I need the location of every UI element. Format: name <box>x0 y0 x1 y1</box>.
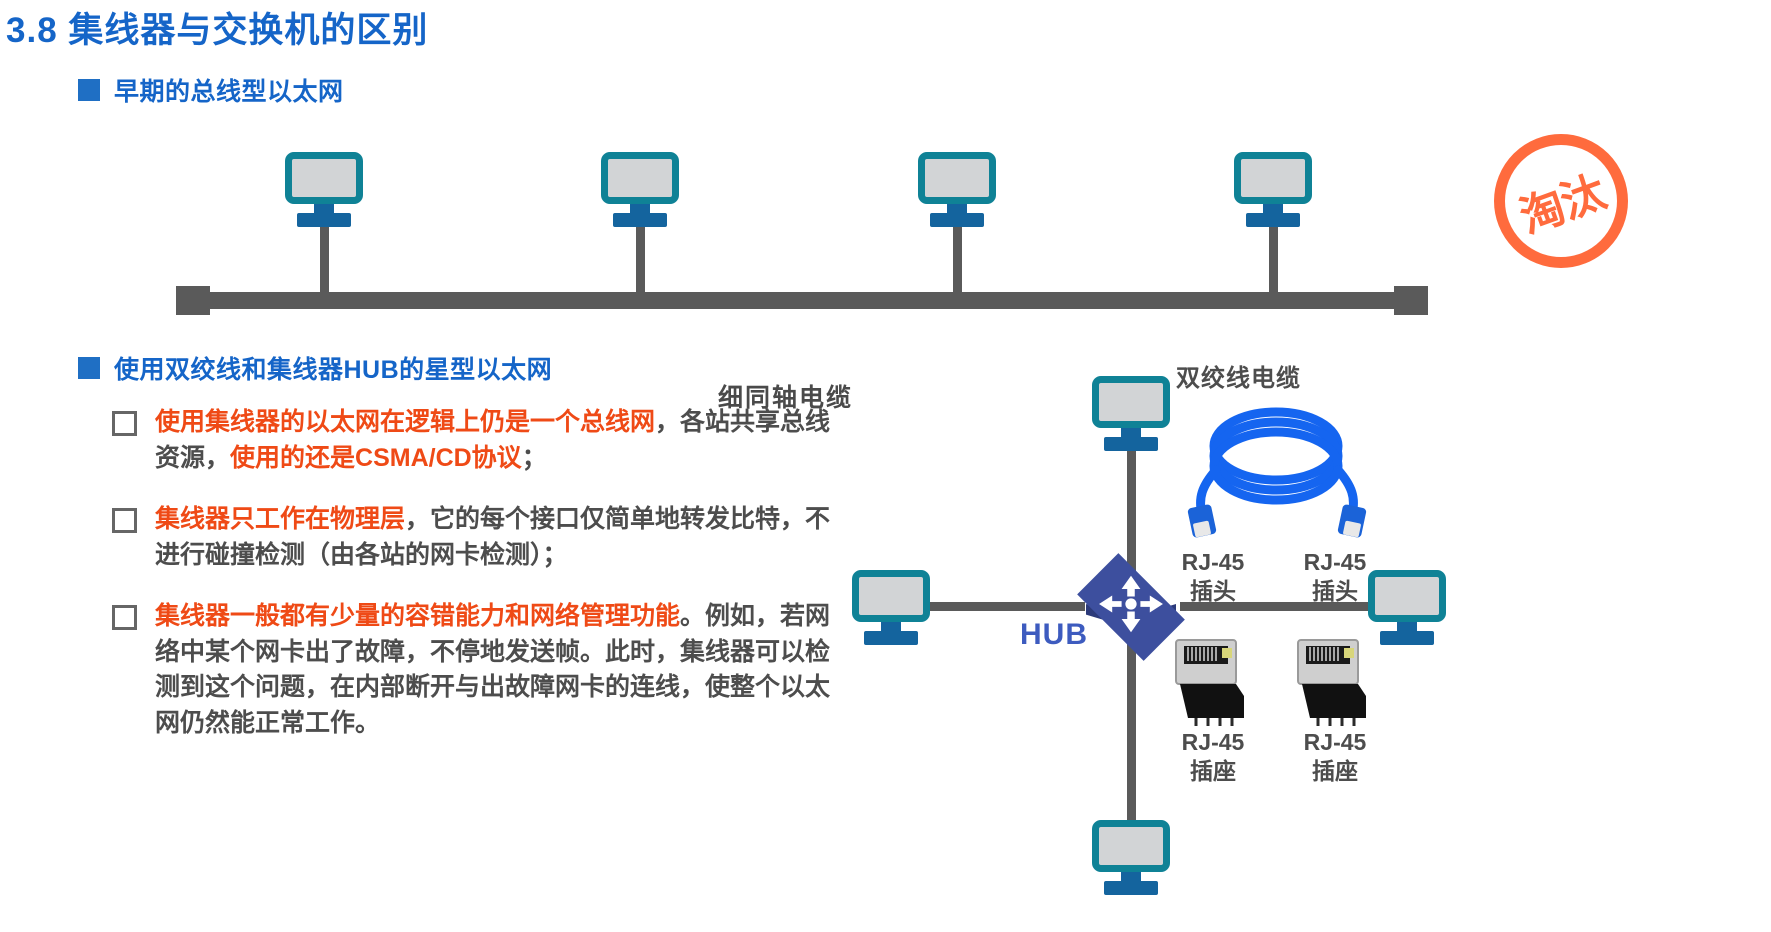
bullet-list: 使用集线器的以太网在逻辑上仍是一个总线网，各站共享总线资源，使用的还是CSMA/… <box>112 405 852 767</box>
computer-icon-top <box>1092 376 1170 451</box>
text-run-2: 使用的还是CSMA/CD协议 <box>230 444 522 472</box>
monitor-base <box>1246 213 1300 227</box>
monitor-base <box>613 213 667 227</box>
section-heading-star: 使用双绞线和集线器HUB的星型以太网 <box>78 350 552 386</box>
bus-drop-2 <box>636 215 645 295</box>
square-bullet-icon <box>78 79 100 101</box>
bus-terminator-left <box>176 286 210 315</box>
text-run-0: 集线器一般都有少量的容错能力和网络管理功能 <box>155 602 680 630</box>
computer-icon-bottom <box>1092 820 1170 895</box>
rj45-plug-caption-2-line1: RJ-45 <box>1280 548 1390 577</box>
rj45-plug-caption-1-line1: RJ-45 <box>1158 548 1268 577</box>
monitor-screen <box>601 152 679 204</box>
rj45-plug-caption-1: RJ-45 插头 <box>1158 548 1268 607</box>
monitor-neck <box>1263 204 1283 213</box>
monitor-base <box>1104 437 1158 451</box>
rj45-plug-caption-2: RJ-45 插头 <box>1280 548 1390 607</box>
computer-icon-4 <box>1234 152 1312 227</box>
checkbox-icon <box>112 605 137 630</box>
link-hub-left <box>910 602 1085 611</box>
computer-icon-2 <box>601 152 679 227</box>
rj45-socket-icon-2 <box>1292 634 1376 726</box>
monitor-screen <box>852 570 930 622</box>
twisted-pair-caption: 双绞线电缆 <box>1176 358 1301 393</box>
bus-drop-4 <box>1269 215 1278 295</box>
monitor-neck <box>1397 622 1417 631</box>
obsolete-stamp: 淘汰 <box>1494 134 1628 268</box>
link-hub-bottom <box>1127 642 1136 832</box>
monitor-screen <box>1092 820 1170 872</box>
monitor-base <box>864 631 918 645</box>
bullet-item-3: 集线器一般都有少量的容错能力和网络管理功能。例如，若网络中某个网卡出了故障，不停… <box>112 599 852 741</box>
bus-drop-3 <box>953 215 962 295</box>
monitor-screen <box>1234 152 1312 204</box>
star-network-diagram: HUB 双绞线电缆 RJ-45 插头 RJ-45 插头 <box>840 380 1771 932</box>
checkbox-icon <box>112 411 137 436</box>
bullet-text-2: 集线器只工作在物理层，它的每个接口仅简单地转发比特，不进行碰撞检测（由各站的网卡… <box>155 502 852 573</box>
rj45-plug-caption-2-line2: 插头 <box>1280 577 1390 606</box>
text-run-0: 集线器只工作在物理层 <box>155 505 405 533</box>
bullet-text-1: 使用集线器的以太网在逻辑上仍是一个总线网，各站共享总线资源，使用的还是CSMA/… <box>155 405 852 476</box>
monitor-screen <box>285 152 363 204</box>
text-run-3: ； <box>522 444 547 472</box>
checkbox-icon <box>112 508 137 533</box>
text-run-0: 使用集线器的以太网在逻辑上仍是一个总线网 <box>155 408 655 436</box>
rj45-socket-caption-1-line1: RJ-45 <box>1158 728 1268 757</box>
rj45-socket-caption-2-line2: 插座 <box>1280 757 1390 786</box>
square-bullet-icon <box>78 357 100 379</box>
hub-label: HUB <box>1020 618 1088 652</box>
section-heading-bus-label: 早期的总线型以太网 <box>114 72 344 108</box>
obsolete-stamp-text: 淘汰 <box>1510 156 1613 246</box>
monitor-base <box>297 213 351 227</box>
monitor-base <box>930 213 984 227</box>
section-heading-star-label: 使用双绞线和集线器HUB的星型以太网 <box>114 350 552 386</box>
monitor-neck <box>1121 872 1141 881</box>
bullet-item-1: 使用集线器的以太网在逻辑上仍是一个总线网，各站共享总线资源，使用的还是CSMA/… <box>112 405 852 476</box>
monitor-neck <box>881 622 901 631</box>
computer-icon-1 <box>285 152 363 227</box>
monitor-neck <box>947 204 967 213</box>
computer-icon-3 <box>918 152 996 227</box>
rj45-socket-caption-1-line2: 插座 <box>1158 757 1268 786</box>
rj45-socket-caption-2-line1: RJ-45 <box>1280 728 1390 757</box>
rj45-socket-caption-2: RJ-45 插座 <box>1280 728 1390 787</box>
monitor-screen <box>918 152 996 204</box>
bullet-text-3: 集线器一般都有少量的容错能力和网络管理功能。例如，若网络中某个网卡出了故障，不停… <box>155 599 852 741</box>
computer-icon-left <box>852 570 930 645</box>
rj45-plug-caption-1-line2: 插头 <box>1158 577 1268 606</box>
monitor-screen <box>1092 376 1170 428</box>
monitor-neck <box>314 204 334 213</box>
rj45-socket-caption-1: RJ-45 插座 <box>1158 728 1268 787</box>
monitor-neck <box>1121 428 1141 437</box>
bus-terminator-right <box>1394 286 1428 315</box>
coax-bus-line <box>176 292 1428 309</box>
ethernet-cable-icon <box>1172 394 1372 544</box>
section-heading-bus: 早期的总线型以太网 <box>78 72 344 108</box>
rj45-socket-icon-1 <box>1170 634 1254 726</box>
slide-root: 3.8 集线器与交换机的区别 早期的总线型以太网 <box>0 0 1771 932</box>
bullet-item-2: 集线器只工作在物理层，它的每个接口仅简单地转发比特，不进行碰撞检测（由各站的网卡… <box>112 502 852 573</box>
monitor-neck <box>630 204 650 213</box>
bus-drop-1 <box>320 215 329 295</box>
monitor-base <box>1380 631 1434 645</box>
monitor-base <box>1104 881 1158 895</box>
page-title: 3.8 集线器与交换机的区别 <box>6 2 428 53</box>
